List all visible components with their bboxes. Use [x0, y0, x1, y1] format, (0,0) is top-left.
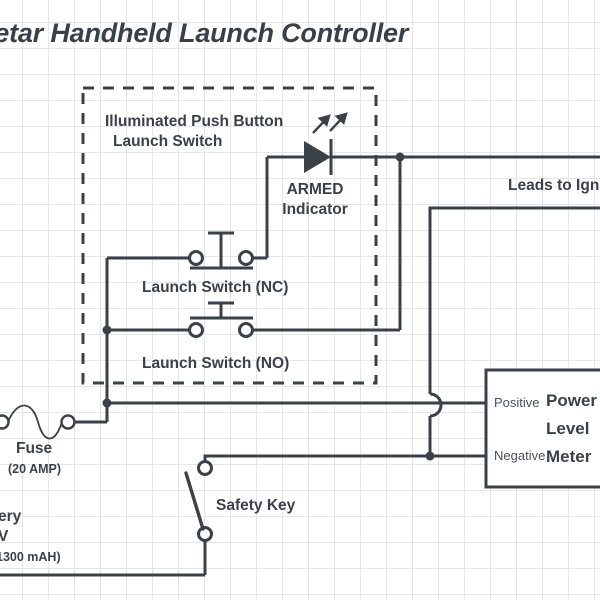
meter-terminal-negative-label: Negative: [494, 449, 545, 464]
igniter-leads-label: Leads to Ign: [508, 177, 599, 194]
launch-switch-no-label: Launch Switch (NO): [142, 355, 289, 372]
fuse-label: Fuse: [16, 440, 52, 457]
power-level-meter-line1: Power: [546, 391, 597, 410]
fuse-rating-label: (20 AMP): [8, 462, 61, 476]
battery-label: ery: [0, 508, 21, 525]
safety-key-label: Safety Key: [216, 497, 295, 514]
armed-indicator-label-line2: Indicator: [282, 201, 347, 218]
label-layer: netar Handheld Launch Controller Illumin…: [0, 0, 600, 600]
page-title: netar Handheld Launch Controller: [0, 18, 408, 48]
enclosure-label-line2: Launch Switch: [113, 133, 222, 150]
schematic-canvas: netar Handheld Launch Controller Illumin…: [0, 0, 600, 600]
meter-terminal-positive-label: Positive: [494, 396, 540, 411]
enclosure-label-line1: Illuminated Push Button: [105, 113, 283, 130]
battery-voltage-label: V: [0, 528, 8, 545]
power-level-meter-line2: Level: [546, 419, 589, 438]
battery-capacity-label: 1300 mAH): [0, 550, 61, 564]
launch-switch-nc-label: Launch Switch (NC): [142, 279, 288, 296]
armed-indicator-label-line1: ARMED: [287, 181, 344, 198]
power-level-meter-line3: Meter: [546, 447, 591, 466]
